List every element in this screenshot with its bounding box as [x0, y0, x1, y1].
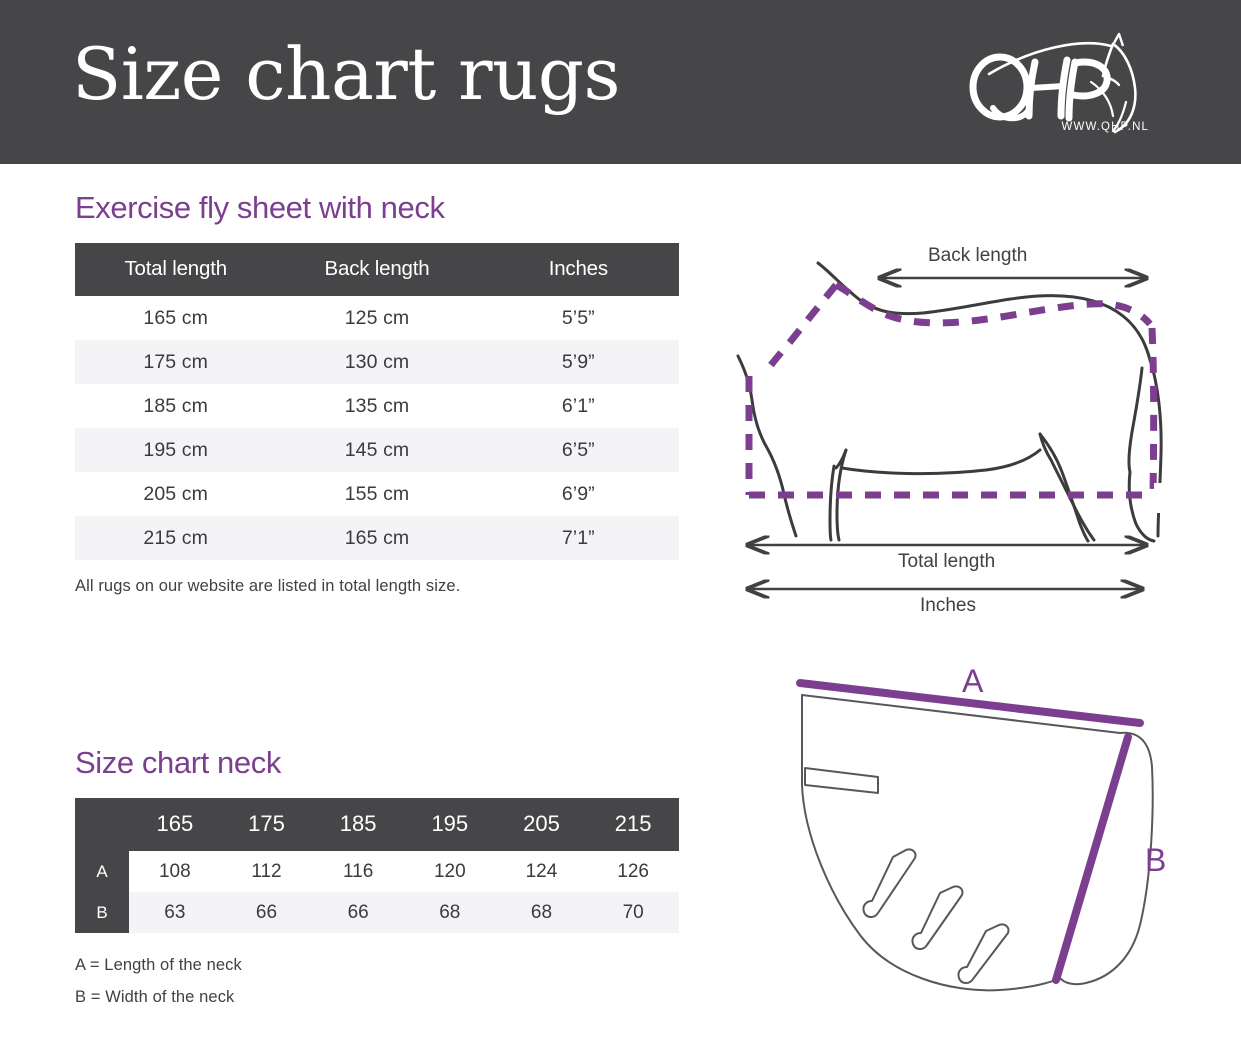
table-row: 165 cm 125 cm 5’5”: [75, 296, 679, 340]
logo-url-text: WWW.QHP.NL: [1062, 121, 1149, 133]
cell-total-length: 215 cm: [75, 516, 276, 560]
column-header-corner: [75, 798, 129, 851]
rug-table-note: All rugs on our website are listed in to…: [75, 577, 680, 596]
legend-item-b: B = Width of the neck: [75, 981, 680, 1013]
cell-inches: 7’1”: [478, 516, 679, 560]
column-header-back-length: Back length: [276, 243, 477, 296]
rug-size-table: Total length Back length Inches 165 cm 1…: [75, 243, 679, 560]
back-length-label: Back length: [928, 245, 1027, 267]
table-row: 205 cm 155 cm 6’9”: [75, 472, 679, 516]
table-row: B 63 66 66 68 68 70: [75, 892, 679, 933]
neck-label-a: A: [962, 663, 983, 700]
cell-a-195: 120: [404, 851, 496, 892]
column-header-205: 205: [496, 798, 588, 851]
cell-back-length: 145 cm: [276, 428, 477, 472]
cell-back-length: 135 cm: [276, 384, 477, 428]
total-length-label: Total length: [898, 551, 995, 573]
column-header-175: 175: [221, 798, 313, 851]
cell-b-215: 70: [587, 892, 679, 933]
cell-a-185: 116: [312, 851, 404, 892]
qhp-logo: WWW.QHP.NL: [963, 32, 1153, 142]
neck-measurement-diagram: [760, 645, 1200, 1025]
table-row: 195 cm 145 cm 6’5”: [75, 428, 679, 472]
cell-inches: 6’9”: [478, 472, 679, 516]
cell-a-205: 124: [496, 851, 588, 892]
cell-a-165: 108: [129, 851, 221, 892]
cell-total-length: 195 cm: [75, 428, 276, 472]
legend-item-a: A = Length of the neck: [75, 949, 680, 981]
cell-total-length: 165 cm: [75, 296, 276, 340]
cell-total-length: 205 cm: [75, 472, 276, 516]
cell-inches: 6’5”: [478, 428, 679, 472]
cell-back-length: 165 cm: [276, 516, 477, 560]
cell-a-215: 126: [587, 851, 679, 892]
cell-back-length: 155 cm: [276, 472, 477, 516]
neck-label-b: B: [1145, 842, 1166, 879]
cell-back-length: 130 cm: [276, 340, 477, 384]
neck-size-table: 165 175 185 195 205 215 A 108 112 116 12…: [75, 798, 679, 933]
cell-inches: 5’9”: [478, 340, 679, 384]
row-label-a: A: [75, 851, 129, 892]
cell-b-185: 66: [312, 892, 404, 933]
cell-b-205: 68: [496, 892, 588, 933]
cell-b-175: 66: [221, 892, 313, 933]
column-header-165: 165: [129, 798, 221, 851]
column-header-inches: Inches: [478, 243, 679, 296]
cell-total-length: 175 cm: [75, 340, 276, 384]
rug-size-section: Exercise fly sheet with neck Total lengt…: [75, 190, 680, 596]
column-header-185: 185: [312, 798, 404, 851]
hem-mask: [1154, 483, 1188, 513]
row-label-b: B: [75, 892, 129, 933]
neck-diagram-svg: [760, 645, 1200, 1025]
cell-inches: 5’5”: [478, 296, 679, 340]
column-header-total-length: Total length: [75, 243, 276, 296]
cell-b-195: 68: [404, 892, 496, 933]
column-header-195: 195: [404, 798, 496, 851]
neck-section-title: Size chart neck: [75, 745, 680, 781]
cell-inches: 6’1”: [478, 384, 679, 428]
table-row: 175 cm 130 cm 5’9”: [75, 340, 679, 384]
measure-line-b: [1056, 737, 1128, 980]
page-title: Size chart rugs: [72, 38, 620, 110]
inches-label: Inches: [920, 595, 976, 617]
cell-b-165: 63: [129, 892, 221, 933]
cell-a-175: 112: [221, 851, 313, 892]
cell-back-length: 125 cm: [276, 296, 477, 340]
cell-total-length: 185 cm: [75, 384, 276, 428]
column-header-215: 215: [587, 798, 679, 851]
table-header-row: 165 175 185 195 205 215: [75, 798, 679, 851]
table-row: 215 cm 165 cm 7’1”: [75, 516, 679, 560]
table-row: 185 cm 135 cm 6’1”: [75, 384, 679, 428]
table-row: A 108 112 116 120 124 126: [75, 851, 679, 892]
neck-size-section: Size chart neck 165 175 185 195 205 215 …: [75, 745, 680, 1013]
neck-legend: A = Length of the neck B = Width of the …: [75, 949, 680, 1013]
rug-section-title: Exercise fly sheet with neck: [75, 190, 680, 226]
table-header-row: Total length Back length Inches: [75, 243, 679, 296]
